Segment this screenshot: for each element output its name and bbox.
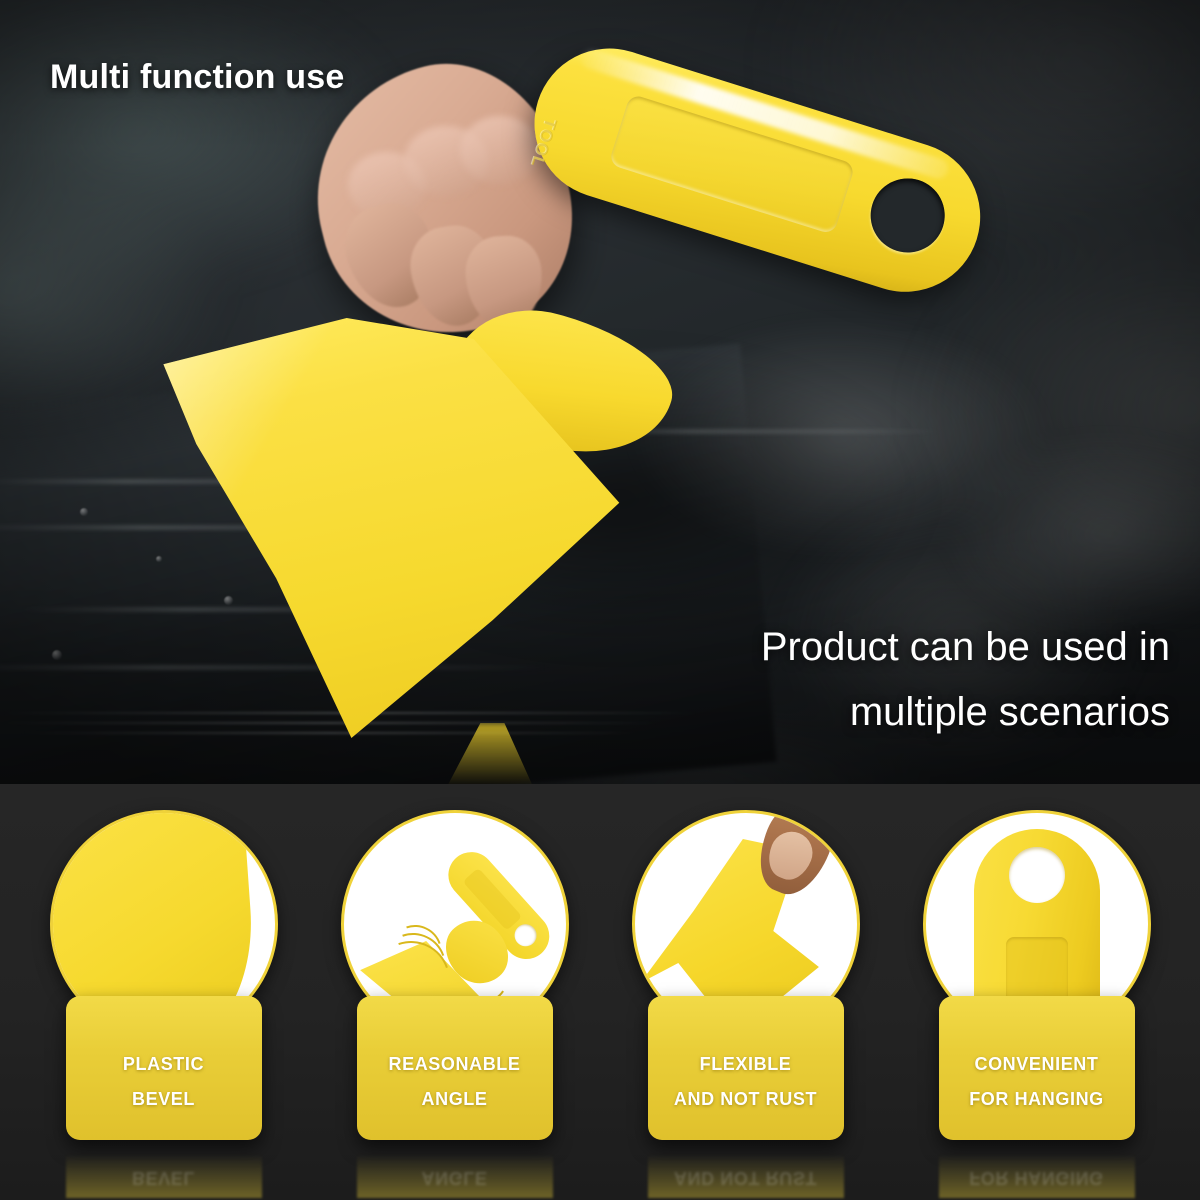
page-title: Multi function use bbox=[50, 58, 344, 97]
feature-card[interactable]: REASONABLE ANGLE ANGLE bbox=[326, 784, 584, 1184]
feature-label-plaque: REASONABLE ANGLE bbox=[357, 996, 553, 1140]
feature-card[interactable]: PLASTIC BEVEL BEVEL bbox=[35, 784, 293, 1184]
feature-card-list: PLASTIC BEVEL BEVEL bbox=[0, 784, 1200, 1200]
handle-recessed-panel bbox=[608, 93, 855, 235]
hero-section: TOOL Multi function use Product can be u… bbox=[0, 0, 1200, 784]
hero-subtitle: Product can be used in multiple scenario… bbox=[630, 615, 1170, 745]
reflection-text: BEVEL bbox=[66, 1167, 262, 1188]
plaque-reflection: ANGLE bbox=[357, 1142, 553, 1198]
tool-handle: TOOL bbox=[515, 29, 999, 310]
feature-label-line-1: PLASTIC bbox=[123, 1054, 204, 1075]
feature-label-line-2: AND NOT RUST bbox=[674, 1089, 817, 1110]
feature-label-line-1: CONVENIENT bbox=[974, 1054, 1098, 1075]
embossed-tool-text: TOOL bbox=[526, 116, 560, 171]
hanging-hole bbox=[861, 169, 954, 262]
feature-card[interactable]: FLEXIBLE AND NOT RUST AND NOT RUST bbox=[617, 784, 875, 1184]
feature-label-plaque: FLEXIBLE AND NOT RUST bbox=[648, 996, 844, 1140]
product-marketing-image: TOOL Multi function use Product can be u… bbox=[0, 0, 1200, 1200]
features-section: PLASTIC BEVEL BEVEL bbox=[0, 784, 1200, 1200]
icon-hanging-hole bbox=[1009, 847, 1065, 903]
feature-label-line-2: ANGLE bbox=[422, 1089, 488, 1110]
plaque-reflection: AND NOT RUST bbox=[648, 1142, 844, 1198]
thumbnail-nail bbox=[761, 825, 818, 885]
hero-subtitle-line-1: Product can be used in bbox=[630, 615, 1170, 680]
plaque-reflection: FOR HANGING bbox=[939, 1142, 1135, 1198]
feature-label-line-2: FOR HANGING bbox=[969, 1089, 1104, 1110]
reflection-text: ANGLE bbox=[357, 1167, 553, 1188]
feature-label-line-2: BEVEL bbox=[132, 1089, 195, 1110]
hero-subtitle-line-2: multiple scenarios bbox=[630, 680, 1170, 745]
feature-label-line-1: FLEXIBLE bbox=[700, 1054, 792, 1075]
plaque-reflection: BEVEL bbox=[66, 1142, 262, 1198]
reflection-text: AND NOT RUST bbox=[648, 1167, 844, 1188]
feature-card[interactable]: CONVENIENT FOR HANGING FOR HANGING bbox=[908, 784, 1166, 1184]
reflection-text: FOR HANGING bbox=[939, 1167, 1135, 1188]
feature-label-plaque: CONVENIENT FOR HANGING bbox=[939, 996, 1135, 1140]
icon-hanging-hole bbox=[510, 920, 541, 951]
feature-label-plaque: PLASTIC BEVEL bbox=[66, 996, 262, 1140]
feature-label-line-1: REASONABLE bbox=[388, 1054, 520, 1075]
